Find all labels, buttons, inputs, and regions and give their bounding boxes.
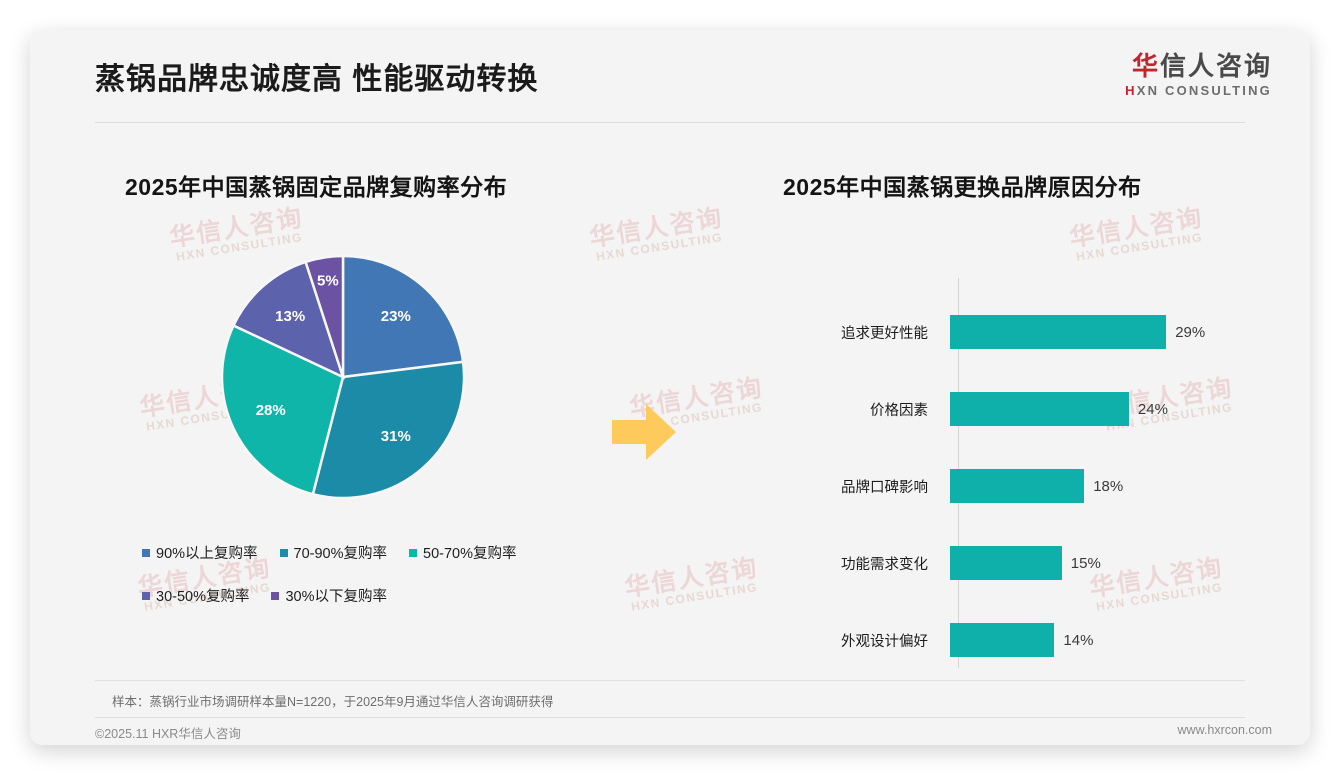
footer-divider <box>95 717 1245 718</box>
bar-fill <box>950 392 1129 426</box>
bar-category-label: 价格因素 <box>790 399 950 420</box>
pie-slice-label: 23% <box>381 308 411 325</box>
right-chart-title: 2025年中国蒸锅更换品牌原因分布 <box>783 168 1142 202</box>
bar-row: 功能需求变化15% <box>790 546 1250 580</box>
watermark: 华信人咨询 HXN CONSULTING <box>1068 205 1207 264</box>
legend-item[interactable]: 30%以下复购率 <box>271 585 387 606</box>
footer-website: www.hxrcon.com <box>1178 723 1272 737</box>
pie-legend: 90%以上复购率70-90%复购率50-70%复购率 30-50%复购率30%以… <box>142 542 572 628</box>
footer-copyright: ©2025.11 HXR华信人咨询 <box>95 723 241 742</box>
transition-arrow <box>608 396 680 473</box>
legend-label: 70-90%复购率 <box>294 542 387 563</box>
pie-slice-label: 31% <box>381 428 411 445</box>
legend-item[interactable]: 70-90%复购率 <box>280 542 387 563</box>
left-chart-title: 2025年中国蒸锅固定品牌复购率分布 <box>125 168 507 202</box>
header-divider <box>95 122 1245 123</box>
legend-item[interactable]: 30-50%复购率 <box>142 585 249 606</box>
bar-value-label: 15% <box>1071 555 1101 572</box>
logo-cn-rest: 信人咨询 <box>1160 51 1272 81</box>
repurchase-rate-pie-chart: 23%31%28%13%5% <box>218 252 468 502</box>
watermark-cn: 华信人咨询 <box>588 205 725 252</box>
watermark: 华信人咨询 HXN CONSULTING <box>588 205 727 264</box>
bar-category-label: 品牌口碑影响 <box>790 476 950 497</box>
legend-label: 30%以下复购率 <box>285 585 387 606</box>
company-logo: 华信人咨询 HXN CONSULTING <box>1125 52 1272 98</box>
logo-cn-accent-char: 华 <box>1132 51 1160 81</box>
bar-value-label: 18% <box>1093 478 1123 495</box>
page-title: 蒸锅品牌忠诚度高 性能驱动转换 <box>95 54 538 98</box>
bar-value-label: 14% <box>1063 632 1093 649</box>
legend-label: 30-50%复购率 <box>156 585 249 606</box>
bar-fill <box>950 623 1054 657</box>
logo-chinese-text: 华信人咨询 <box>1125 52 1272 81</box>
bar-row: 价格因素24% <box>790 392 1250 426</box>
bar-row: 追求更好性能29% <box>790 315 1250 349</box>
watermark-cn: 华信人咨询 <box>1068 205 1205 252</box>
bar-category-label: 外观设计偏好 <box>790 630 950 651</box>
legend-swatch <box>142 549 150 557</box>
bar-row: 外观设计偏好14% <box>790 623 1250 657</box>
watermark: 华信人咨询 HXN CONSULTING <box>623 555 762 614</box>
legend-row: 30-50%复购率30%以下复购率 <box>142 585 572 606</box>
pie-slice-label: 28% <box>256 402 286 419</box>
watermark-en: HXN CONSULTING <box>627 581 762 615</box>
legend-row: 90%以上复购率70-90%复购率50-70%复购率 <box>142 542 572 563</box>
watermark-cn: 华信人咨询 <box>623 555 760 602</box>
bar-fill <box>950 315 1166 349</box>
watermark-cn: 华信人咨询 <box>168 205 305 252</box>
logo-english-text: HXN CONSULTING <box>1125 83 1272 98</box>
legend-item[interactable]: 50-70%复购率 <box>409 542 516 563</box>
watermark-en: HXN CONSULTING <box>592 231 727 265</box>
legend-label: 90%以上复购率 <box>156 542 258 563</box>
source-note: 样本：蒸锅行业市场调研样本量N=1220，于2025年9月通过华信人咨询调研获得 <box>112 691 553 710</box>
source-divider <box>95 680 1245 681</box>
legend-swatch <box>280 549 288 557</box>
bar-category-label: 功能需求变化 <box>790 553 950 574</box>
bar-value-label: 29% <box>1175 324 1205 341</box>
slide-header: 蒸锅品牌忠诚度高 性能驱动转换 华信人咨询 HXN CONSULTING <box>30 30 1310 122</box>
bar-row: 品牌口碑影响18% <box>790 469 1250 503</box>
pie-slice-label: 13% <box>275 308 305 325</box>
bar-value-label: 24% <box>1138 401 1168 418</box>
legend-swatch <box>271 592 279 600</box>
bar-fill <box>950 469 1084 503</box>
pie-slice-label: 5% <box>317 272 339 289</box>
logo-en-rest: XN CONSULTING <box>1137 83 1272 98</box>
legend-item[interactable]: 90%以上复购率 <box>142 542 258 563</box>
legend-label: 50-70%复购率 <box>423 542 516 563</box>
logo-en-accent-char: H <box>1125 83 1137 98</box>
slide-canvas: 华信人咨询 HXN CONSULTING 华信人咨询 HXN CONSULTIN… <box>30 30 1310 745</box>
legend-swatch <box>409 549 417 557</box>
pie-chart-svg: 23%31%28%13%5% <box>218 252 468 502</box>
legend-swatch <box>142 592 150 600</box>
right-arrow-icon <box>608 396 680 468</box>
switch-reason-bar-chart: 追求更好性能29%价格因素24%品牌口碑影响18%功能需求变化15%外观设计偏好… <box>790 260 1250 680</box>
bar-category-label: 追求更好性能 <box>790 322 950 343</box>
bar-fill <box>950 546 1062 580</box>
